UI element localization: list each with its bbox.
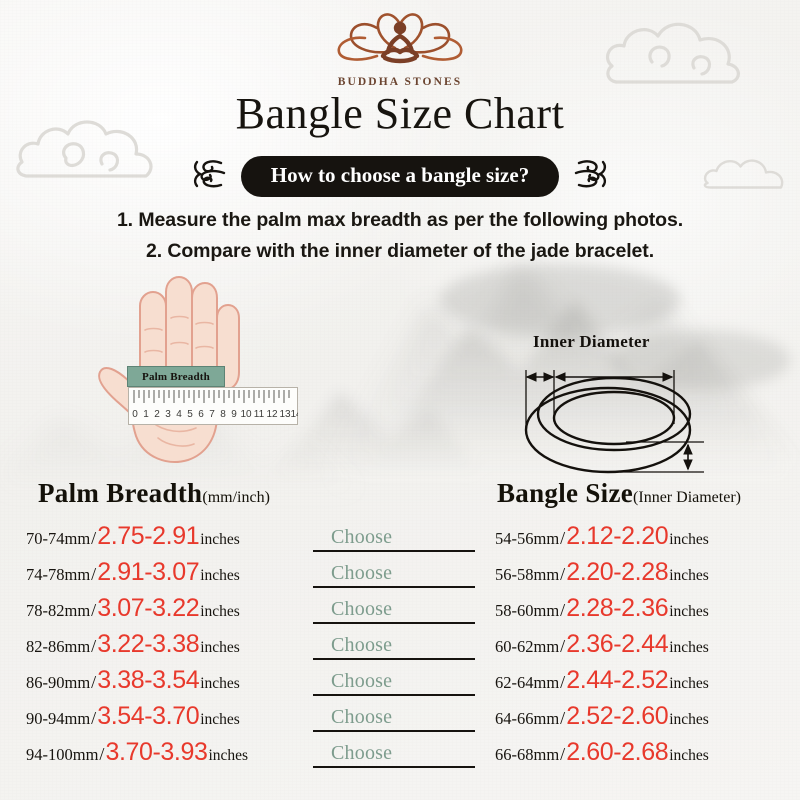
choose-row[interactable]: Choose [313, 560, 475, 596]
unit-label: inches [668, 639, 709, 657]
bangle-mm-value: 62-64mm [495, 673, 559, 693]
svg-text:3: 3 [165, 409, 171, 420]
palm-inch-value: 3.38-3.54 [97, 668, 199, 693]
brand-logo: BUDDHA STONES [0, 8, 800, 88]
bangle-mm-value: 56-58mm [495, 565, 559, 585]
table-row: 86-90mm/3.38-3.54inches [26, 668, 248, 704]
palm-breadth-band: Palm Breadth [127, 366, 225, 387]
separator: / [90, 600, 97, 621]
svg-text:1: 1 [143, 409, 149, 420]
bangle-inch-value: 2.12-2.20 [566, 524, 668, 549]
table-row: 78-82mm/3.07-3.22inches [26, 596, 248, 632]
bangle-mm-value: 64-66mm [495, 709, 559, 729]
svg-text:8: 8 [220, 409, 226, 420]
palm-mm-value: 82-86mm [26, 637, 90, 657]
table-row: 58-60mm/2.28-2.36inches [495, 596, 709, 632]
svg-text:0: 0 [132, 409, 138, 420]
lotus-meditation-icon [325, 8, 475, 75]
svg-text:10: 10 [240, 409, 252, 420]
section-heading-bangle-size-title: Bangle Size [497, 478, 633, 508]
separator: / [98, 744, 105, 765]
bangle-mm-value: 58-60mm [495, 601, 559, 621]
unit-label: inches [199, 711, 240, 729]
section-heading-palm-breadth-unit: (mm/inch) [202, 489, 270, 506]
palm-inch-value: 3.22-3.38 [97, 632, 199, 657]
bangle-inch-value: 2.36-2.44 [566, 632, 668, 657]
svg-text:13: 13 [279, 409, 291, 420]
table-row: 74-78mm/2.91-3.07inches [26, 560, 248, 596]
choose-underline [313, 766, 475, 768]
table-row: 94-100mm/3.70-3.93inches [26, 740, 248, 776]
bangle-mm-value: 66-68mm [495, 745, 559, 765]
choose-label: Choose [331, 598, 392, 621]
separator: / [559, 744, 566, 765]
separator: / [559, 600, 566, 621]
svg-text:14: 14 [290, 409, 298, 420]
bangle-inch-value: 2.44-2.52 [566, 668, 668, 693]
choose-row[interactable]: Choose [313, 596, 475, 632]
palm-mm-value: 70-74mm [26, 529, 90, 549]
choose-column: Choose Choose Choose Choose Choose Choos… [313, 524, 475, 776]
table-row: 70-74mm/2.75-2.91inches [26, 524, 248, 560]
table-row: 56-58mm/2.20-2.28inches [495, 560, 709, 596]
subtitle-pill: How to choose a bangle size? [241, 156, 559, 197]
section-heading-palm-breadth-title: Palm Breadth [38, 478, 202, 508]
svg-text:12: 12 [266, 409, 278, 420]
svg-text:4: 4 [176, 409, 182, 420]
separator: / [90, 528, 97, 549]
palm-mm-value: 78-82mm [26, 601, 90, 621]
unit-label: inches [668, 675, 709, 693]
palm-breadth-band-label: Palm Breadth [142, 371, 210, 383]
svg-text:7: 7 [209, 409, 215, 420]
unit-label: inches [199, 567, 240, 585]
palm-mm-value: 94-100mm [26, 745, 98, 765]
choose-label: Choose [331, 670, 392, 693]
table-row: 90-94mm/3.54-3.70inches [26, 704, 248, 740]
inner-diameter-label: Inner Diameter [533, 332, 650, 352]
bangle-mm-value: 60-62mm [495, 637, 559, 657]
choose-label: Choose [331, 562, 392, 585]
choose-row[interactable]: Choose [313, 524, 475, 560]
separator: / [90, 708, 97, 729]
unit-label: inches [207, 747, 248, 765]
bangle-mm-value: 54-56mm [495, 529, 559, 549]
section-heading-bangle-size-unit: (Inner Diameter) [633, 489, 741, 506]
svg-text:2: 2 [154, 409, 160, 420]
palm-breadth-table: 70-74mm/2.75-2.91inches 74-78mm/2.91-3.0… [26, 524, 248, 776]
separator: / [559, 672, 566, 693]
section-heading-palm-breadth: Palm Breadth(mm/inch) [38, 478, 270, 509]
choose-label: Choose [331, 634, 392, 657]
bangle-size-table: 54-56mm/2.12-2.20inches 56-58mm/2.20-2.2… [495, 524, 709, 776]
choose-row[interactable]: Choose [313, 668, 475, 704]
table-row: 54-56mm/2.12-2.20inches [495, 524, 709, 560]
table-row: 64-66mm/2.52-2.60inches [495, 704, 709, 740]
choose-underline [313, 694, 475, 696]
bangle-inch-value: 2.60-2.68 [566, 740, 668, 765]
svg-text:6: 6 [198, 409, 204, 420]
bangle-inch-value: 2.20-2.28 [566, 560, 668, 585]
palm-mm-value: 74-78mm [26, 565, 90, 585]
bangle-size-chart-page: BUDDHA STONES Bangle Size Chart How to c… [0, 0, 800, 800]
svg-text:11: 11 [254, 409, 265, 420]
choose-underline [313, 586, 475, 588]
palm-inch-value: 2.91-3.07 [97, 560, 199, 585]
table-row: 62-64mm/2.44-2.52inches [495, 668, 709, 704]
bangle-inch-value: 2.52-2.60 [566, 704, 668, 729]
unit-label: inches [199, 675, 240, 693]
separator: / [90, 636, 97, 657]
unit-label: inches [199, 639, 240, 657]
palm-inch-value: 3.70-3.93 [105, 740, 207, 765]
bangle-inch-value: 2.28-2.36 [566, 596, 668, 621]
table-row: 66-68mm/2.60-2.68inches [495, 740, 709, 776]
unit-label: inches [199, 603, 240, 621]
palm-mm-value: 86-90mm [26, 673, 90, 693]
unit-label: inches [199, 531, 240, 549]
flourish-ornament-right-icon [571, 156, 609, 197]
brand-name: BUDDHA STONES [338, 76, 463, 88]
unit-label: inches [668, 603, 709, 621]
instruction-line-1: 1. Measure the palm max breadth as per t… [0, 205, 800, 236]
choose-label: Choose [331, 742, 392, 765]
bangle-ring-diagram [508, 352, 718, 487]
separator: / [90, 672, 97, 693]
instructions-list: 1. Measure the palm max breadth as per t… [0, 205, 800, 267]
choose-row[interactable]: Choose [313, 740, 475, 776]
svg-text:9: 9 [231, 409, 237, 420]
palm-inch-value: 3.54-3.70 [97, 704, 199, 729]
table-row: 60-62mm/2.36-2.44inches [495, 632, 709, 668]
palm-mm-value: 90-94mm [26, 709, 90, 729]
separator: / [90, 564, 97, 585]
separator: / [559, 528, 566, 549]
palm-inch-value: 3.07-3.22 [97, 596, 199, 621]
svg-text:5: 5 [187, 409, 193, 420]
choose-label: Choose [331, 706, 392, 729]
instruction-line-2: 2. Compare with the inner diameter of th… [0, 236, 800, 267]
choose-row[interactable]: Choose [313, 704, 475, 740]
section-heading-bangle-size: Bangle Size(Inner Diameter) [497, 478, 741, 509]
subtitle-row: How to choose a bangle size? [0, 156, 800, 197]
ruler-icon: 012 345 678 91011 121314 [128, 387, 298, 430]
flourish-ornament-left-icon [191, 156, 229, 197]
unit-label: inches [668, 531, 709, 549]
choose-underline [313, 550, 475, 552]
table-row: 82-86mm/3.22-3.38inches [26, 632, 248, 668]
palm-inch-value: 2.75-2.91 [97, 524, 199, 549]
choose-row[interactable]: Choose [313, 632, 475, 668]
unit-label: inches [668, 747, 709, 765]
page-title: Bangle Size Chart [0, 88, 800, 139]
unit-label: inches [668, 567, 709, 585]
choose-underline [313, 730, 475, 732]
choose-underline [313, 622, 475, 624]
unit-label: inches [668, 711, 709, 729]
separator: / [559, 564, 566, 585]
separator: / [559, 636, 566, 657]
choose-underline [313, 658, 475, 660]
choose-label: Choose [331, 526, 392, 549]
separator: / [559, 708, 566, 729]
